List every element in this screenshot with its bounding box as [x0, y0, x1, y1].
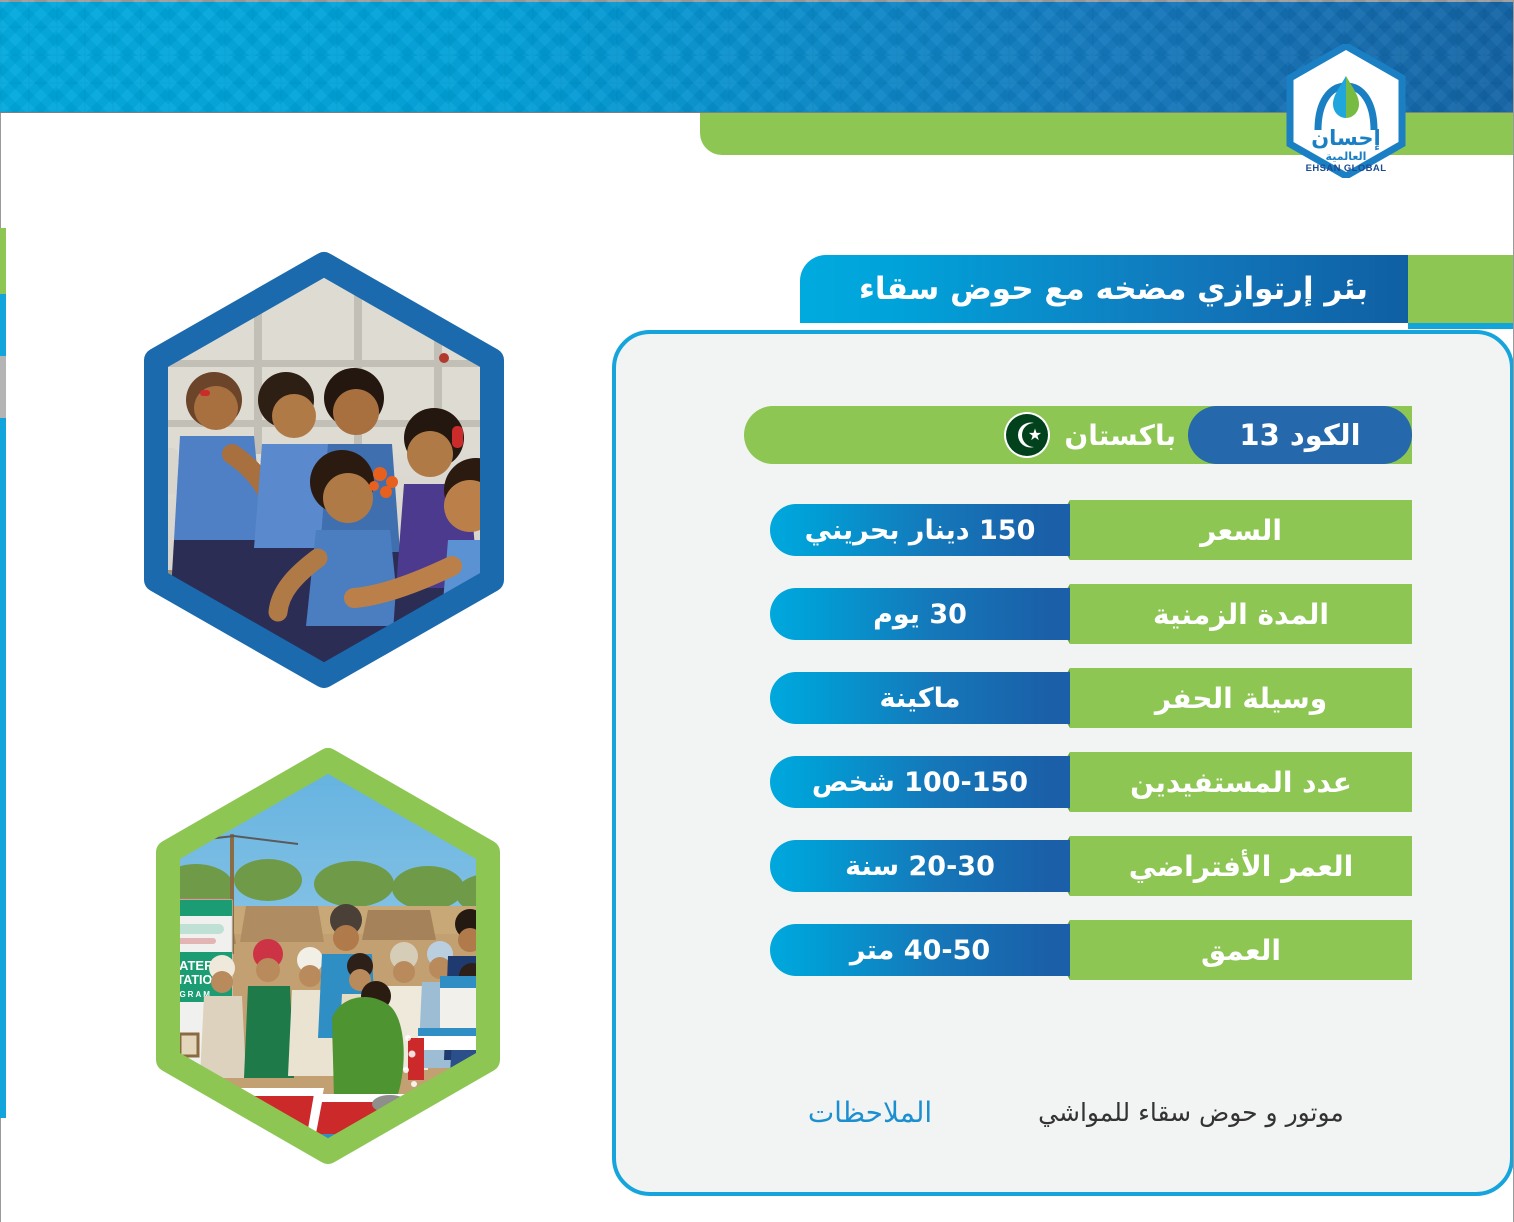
spec-row-label: السعر — [1070, 500, 1412, 560]
spec-row-label: العمق — [1070, 920, 1412, 980]
photo-1-content — [104, 240, 544, 700]
spec-row: العمق40-50 متر — [770, 920, 1412, 980]
spec-row-label: العمر الأفتراضي — [1070, 836, 1412, 896]
specifications-list: السعر150 دينار بحرينيالمدة الزمنية30 يوم… — [770, 500, 1412, 1004]
logo-arabic-name: إحسان — [1311, 126, 1381, 150]
logo-arabic-sub: العالمية — [1326, 150, 1367, 163]
ehsan-global-logo: إحسان العالمية EHSAN GLOBAL — [1284, 44, 1408, 178]
edge-strip-gray — [0, 356, 6, 418]
project-code-badge: الكود 13 — [1188, 406, 1412, 464]
photo-2-content: WATER & SANITATION PROGRAM — [118, 738, 538, 1174]
spec-row: المدة الزمنية30 يوم — [770, 584, 1412, 644]
photo-2-svg: WATER & SANITATION PROGRAM — [118, 738, 538, 1174]
title-green-cap — [1408, 255, 1514, 323]
code-country-row: باكستان الكود 13 — [744, 406, 1412, 464]
project-code-label: الكود 13 — [1239, 418, 1360, 452]
edge-strip-green — [0, 228, 6, 294]
logo-english-name: EHSAN GLOBAL — [1306, 163, 1387, 174]
children-drinking-water-photo — [104, 240, 544, 700]
spec-row-value: ماكينة — [770, 672, 1070, 724]
title-underline — [1408, 323, 1514, 329]
spec-row: العمر الأفتراضي20-30 سنة — [770, 836, 1412, 896]
page-title: بئر إرتوازي مضخه مع حوض سقاء — [859, 271, 1368, 307]
project-card-page: إحسان العالمية EHSAN GLOBAL — [0, 0, 1514, 1222]
pakistan-flag-icon — [1006, 414, 1048, 456]
logo-svg: إحسان العالمية EHSAN GLOBAL — [1284, 44, 1408, 178]
notes-value: موتور و حوض سقاء للمواشي — [970, 1098, 1412, 1127]
country-group: باكستان — [1006, 406, 1176, 464]
water-sanitation-program-photo: WATER & SANITATION PROGRAM — [118, 738, 538, 1174]
flag-svg — [1006, 414, 1048, 456]
spec-row-label: المدة الزمنية — [1070, 584, 1412, 644]
notes-label: الملاحظات — [770, 1096, 970, 1129]
spec-row: عدد المستفيدين100-150 شخص — [770, 752, 1412, 812]
spec-row-value: 100-150 شخص — [770, 756, 1070, 808]
spec-row-value: 40-50 متر — [770, 924, 1070, 976]
spec-row-value: 30 يوم — [770, 588, 1070, 640]
spec-row: السعر150 دينار بحريني — [770, 500, 1412, 560]
spec-row-label: وسيلة الحفر — [1070, 668, 1412, 728]
edge-strip-blue-upper — [0, 294, 6, 356]
notes-row: موتور و حوض سقاء للمواشي الملاحظات — [770, 1088, 1412, 1136]
spec-row-label: عدد المستفيدين — [1070, 752, 1412, 812]
spec-row-value: 150 دينار بحريني — [770, 504, 1070, 556]
spec-row: وسيلة الحفرماكينة — [770, 668, 1412, 728]
spec-row-value: 20-30 سنة — [770, 840, 1070, 892]
project-title-bar: بئر إرتوازي مضخه مع حوض سقاء — [800, 255, 1408, 323]
photo-1-svg — [104, 240, 544, 700]
edge-strip-blue-lower — [0, 418, 6, 1118]
country-name: باكستان — [1064, 419, 1176, 452]
